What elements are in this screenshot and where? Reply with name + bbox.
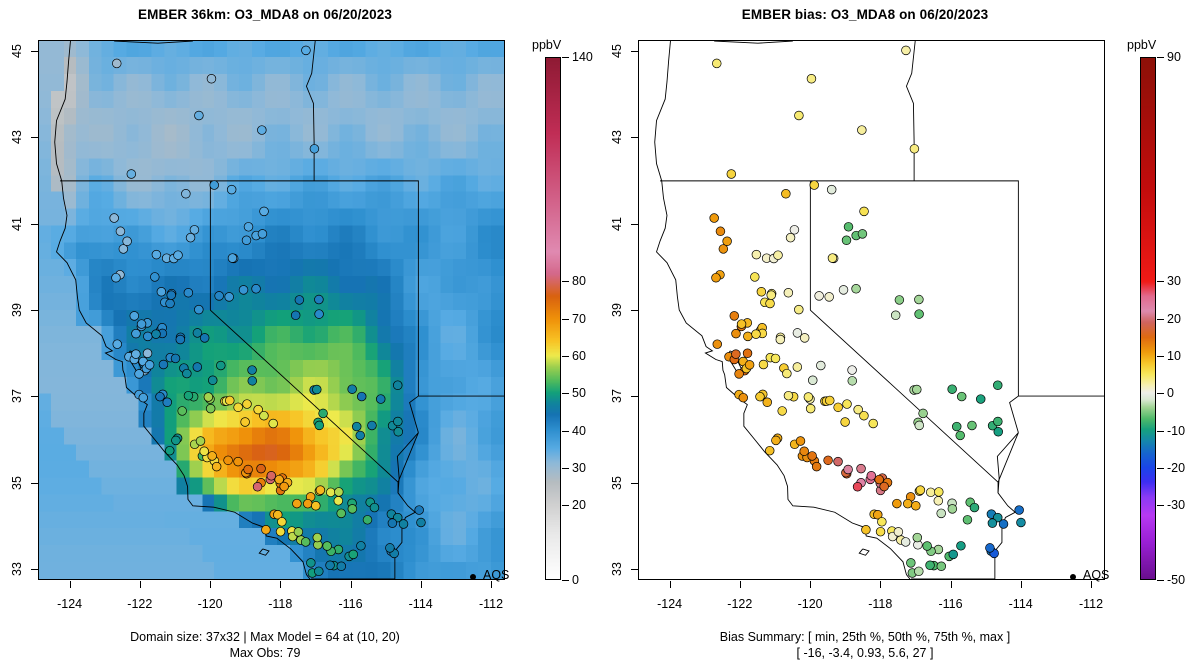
y-axis-bias: 33353739414345 [600, 40, 638, 580]
panel-model: EMBER 36km: O3_MDA8 on 06/20/2023 AQS -1… [0, 0, 600, 672]
colorbar-title-bias: ppbV [1127, 38, 1156, 52]
aqs-legend-dot [1070, 574, 1076, 580]
caption-max-obs: Max Obs: 79 [0, 646, 530, 661]
x-axis-bias: -124-122-120-118-116-114-112 [638, 581, 1105, 615]
aqs-legend-label: AQS [1083, 568, 1109, 582]
aqs-legend-bias: AQS [1083, 568, 1109, 582]
colorbar-title-model: ppbV [532, 38, 561, 52]
aqs-legend-dot [470, 574, 476, 580]
map-plot-bias[interactable] [638, 40, 1105, 580]
aqs-legend-model: AQS [483, 568, 509, 582]
colorbar-gradient-model [545, 57, 561, 580]
map-plot-model[interactable] [38, 40, 505, 580]
observation-markers-model[interactable] [39, 41, 504, 579]
panel-title-bias: EMBER bias: O3_MDA8 on 06/20/2023 [600, 7, 1130, 22]
aqs-legend-label: AQS [483, 568, 509, 582]
caption-bias-summary-values: [ -16, -3.4, 0.93, 5.6, 27 ] [600, 646, 1130, 661]
panel-bias: EMBER bias: O3_MDA8 on 06/20/2023 AQS -1… [600, 0, 1200, 672]
colorbar-gradient-bias [1140, 57, 1156, 580]
x-axis-model: -124-122-120-118-116-114-112 [38, 581, 505, 615]
caption-domain-size: Domain size: 37x32 | Max Model = 64 at (… [0, 630, 530, 645]
panel-title-model: EMBER 36km: O3_MDA8 on 06/20/2023 [0, 7, 530, 22]
caption-bias-summary-header: Bias Summary: [ min, 25th %, 50th %, 75t… [600, 630, 1130, 645]
y-axis-model: 33353739414345 [0, 40, 38, 580]
bias-markers[interactable] [639, 41, 1104, 579]
